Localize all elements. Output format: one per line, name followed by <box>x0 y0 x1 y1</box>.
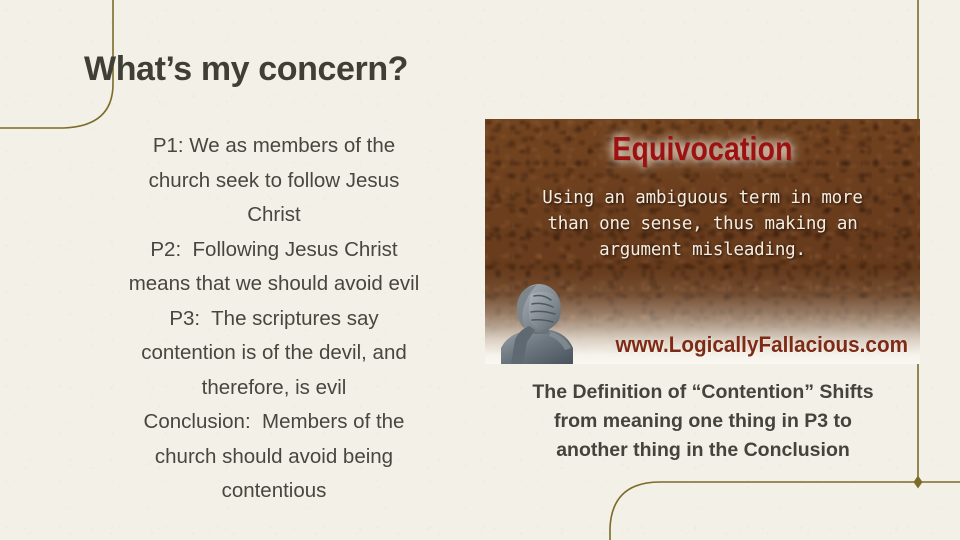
argument-line: therefore, is evil <box>78 371 470 406</box>
line-junction-diamond <box>914 476 923 489</box>
definition-line: than one sense, thus making an <box>547 214 857 234</box>
page-title: What’s my concern? <box>84 50 408 89</box>
argument-line: P3: The scriptures say <box>78 302 470 337</box>
argument-line: Conclusion: Members of the <box>78 405 470 440</box>
equivocation-definition-text: Using an ambiguous term in more than one… <box>497 185 908 263</box>
argument-line: church seek to follow Jesus <box>78 164 470 199</box>
argument-line: contentious <box>78 474 470 509</box>
bottom-right-elbow-line <box>610 482 960 540</box>
caption-line: The Definition of “Contention” Shifts <box>487 378 919 407</box>
facepalm-statue-icon <box>493 282 579 364</box>
fallacy-website-url: www.LogicallyFallacious.com <box>615 332 901 358</box>
caption-line: another thing in the Conclusion <box>487 436 919 465</box>
caption-line: from meaning one thing in P3 to <box>487 407 919 436</box>
argument-line: contention is of the devil, and <box>78 336 470 371</box>
image-caption: The Definition of “Contention” Shifts fr… <box>487 378 919 465</box>
slide-canvas: What’s my concern? P1: We as members of … <box>0 0 960 540</box>
argument-line: means that we should avoid evil <box>78 267 470 302</box>
fallacy-definition-image: Equivocation Using an ambiguous term in … <box>485 119 920 364</box>
definition-line: Using an ambiguous term in more <box>542 188 862 208</box>
argument-line: Christ <box>78 198 470 233</box>
argument-line: P1: We as members of the <box>78 129 470 164</box>
definition-line: argument misleading. <box>599 240 806 260</box>
argument-text-block: P1: We as members of the church seek to … <box>78 129 470 509</box>
equivocation-heading: Equivocation <box>515 130 889 168</box>
argument-line: church should avoid being <box>78 440 470 475</box>
argument-line: P2: Following Jesus Christ <box>78 233 470 268</box>
